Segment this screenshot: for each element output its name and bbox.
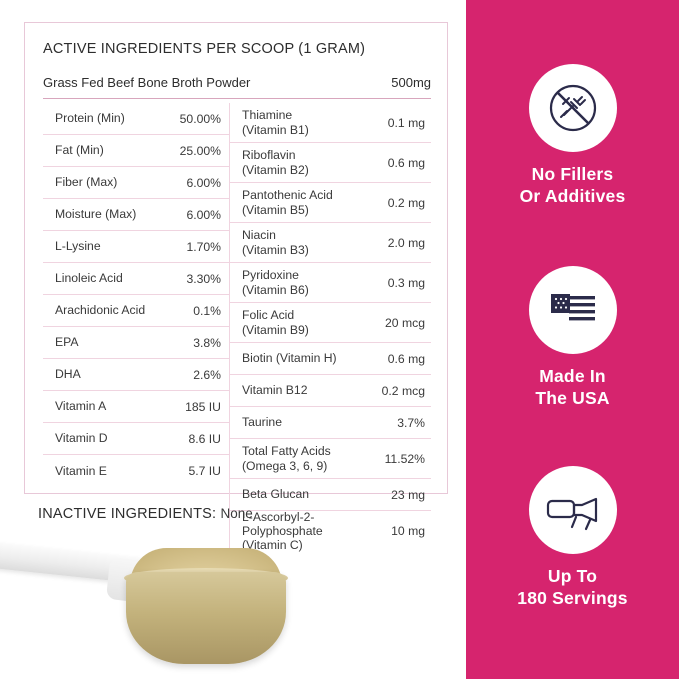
table-row: Fiber (Max)6.00% bbox=[43, 167, 229, 199]
ingredient-subname: (Vitamin B5) bbox=[242, 203, 333, 217]
ingredient-name: Total Fatty Acids(Omega 3, 6, 9) bbox=[242, 444, 337, 472]
table-row: Pantothenic Acid(Vitamin B5)0.2 mg bbox=[230, 183, 431, 223]
table-row: Taurine3.7% bbox=[230, 407, 431, 439]
ingredient-name: Fat (Min) bbox=[55, 143, 110, 157]
feature-label-line1: No Fillers bbox=[532, 164, 614, 184]
ingredient-subname: (Vitamin B9) bbox=[242, 323, 309, 337]
ingredient-value: 6.00% bbox=[186, 208, 221, 222]
ingredient-value: 5.7 IU bbox=[188, 464, 221, 478]
ingredient-subname: (Vitamin B6) bbox=[242, 283, 309, 297]
table-row: Biotin (Vitamin H)0.6 mg bbox=[230, 343, 431, 375]
ingredient-name: Pantothenic Acid(Vitamin B5) bbox=[242, 188, 339, 216]
table-row: Protein (Min)50.00% bbox=[43, 103, 229, 135]
feature-no-fillers: No Fillers Or Additives bbox=[466, 64, 679, 208]
ingredient-name: DHA bbox=[55, 367, 87, 381]
feature-label: No Fillers Or Additives bbox=[466, 164, 679, 208]
ingredient-value: 23 mg bbox=[391, 488, 425, 502]
table-row: Total Fatty Acids(Omega 3, 6, 9)11.52% bbox=[230, 439, 431, 479]
feature-label: Up To 180 Servings bbox=[466, 566, 679, 610]
ingredient-subname: (Vitamin B2) bbox=[242, 163, 309, 177]
table-row: Fat (Min)25.00% bbox=[43, 135, 229, 167]
table-row: Vitamin A185 IU bbox=[43, 391, 229, 423]
ingredient-name: Thiamine(Vitamin B1) bbox=[242, 108, 315, 136]
ingredient-name: Niacin(Vitamin B3) bbox=[242, 228, 315, 256]
ingredient-value: 0.2 mg bbox=[388, 196, 425, 210]
ingredient-value: 50.00% bbox=[180, 112, 221, 126]
ingredient-value: 3.8% bbox=[193, 336, 221, 350]
ingredient-value: 11.52% bbox=[385, 452, 425, 466]
ingredient-header-row: Grass Fed Beef Bone Broth Powder 500mg bbox=[43, 71, 431, 99]
table-row: L-Lysine1.70% bbox=[43, 231, 229, 263]
product-scoop-image bbox=[0, 520, 466, 679]
ingredient-column-right: Thiamine(Vitamin B1)0.1 mg Riboflavin(Vi… bbox=[229, 103, 431, 551]
table-row: Riboflavin(Vitamin B2)0.6 mg bbox=[230, 143, 431, 183]
no-fillers-crossed-out-icon bbox=[547, 82, 599, 134]
ingredient-value: 0.6 mg bbox=[388, 352, 425, 366]
usa-flag-icon bbox=[547, 290, 599, 330]
ingredient-name: Taurine bbox=[242, 415, 288, 429]
ingredient-name: Riboflavin(Vitamin B2) bbox=[242, 148, 315, 176]
ingredient-value: 1.70% bbox=[186, 240, 221, 254]
scoop-bowl bbox=[126, 572, 286, 664]
table-row: Arachidonic Acid0.1% bbox=[43, 295, 229, 327]
table-row: Thiamine(Vitamin B1)0.1 mg bbox=[230, 103, 431, 143]
ingredient-value: 25.00% bbox=[180, 144, 221, 158]
ingredient-name: Pyridoxine(Vitamin B6) bbox=[242, 268, 315, 296]
ingredient-name: Folic Acid(Vitamin B9) bbox=[242, 308, 315, 336]
feature-icon-circle bbox=[529, 266, 617, 354]
ingredient-name: Beta Glucan bbox=[242, 487, 315, 501]
ingredients-card: ACTIVE INGREDIENTS PER SCOOP (1 GRAM) Gr… bbox=[24, 22, 448, 494]
ingredient-value: 0.1% bbox=[193, 304, 221, 318]
table-row: Linoleic Acid3.30% bbox=[43, 263, 229, 295]
table-row: Niacin(Vitamin B3)2.0 mg bbox=[230, 223, 431, 263]
ingredient-name: L-Lysine bbox=[55, 239, 107, 253]
ingredient-subname: (Vitamin B1) bbox=[242, 123, 309, 137]
scoop-icon bbox=[546, 489, 600, 531]
ingredient-name: Moisture (Max) bbox=[55, 207, 142, 221]
table-row: Moisture (Max)6.00% bbox=[43, 199, 229, 231]
ingredient-value: 2.0 mg bbox=[388, 236, 425, 250]
ingredient-header-value: 500mg bbox=[391, 75, 431, 90]
ingredient-name: Vitamin A bbox=[55, 399, 112, 413]
feature-label-line2: 180 Servings bbox=[517, 588, 627, 608]
table-row: DHA2.6% bbox=[43, 359, 229, 391]
ingredient-column-left: Protein (Min)50.00% Fat (Min)25.00% Fibe… bbox=[43, 103, 229, 487]
feature-label-line1: Made In bbox=[539, 366, 606, 386]
ingredient-name: Arachidonic Acid bbox=[55, 303, 151, 317]
table-row: Folic Acid(Vitamin B9)20 mcg bbox=[230, 303, 431, 343]
page-title: ACTIVE INGREDIENTS PER SCOOP (1 GRAM) bbox=[43, 41, 365, 57]
ingredient-name: EPA bbox=[55, 335, 84, 349]
ingredient-name: Vitamin D bbox=[55, 431, 114, 445]
ingredient-value: 0.6 mg bbox=[388, 156, 425, 170]
table-row: Pyridoxine(Vitamin B6)0.3 mg bbox=[230, 263, 431, 303]
ingredient-name: Vitamin B12 bbox=[242, 383, 314, 397]
ingredient-value: 0.3 mg bbox=[388, 276, 425, 290]
ingredient-value: 6.00% bbox=[186, 176, 221, 190]
ingredient-value: 2.6% bbox=[193, 368, 221, 382]
ingredient-value: 20 mcg bbox=[385, 316, 425, 330]
ingredient-name: Protein (Min) bbox=[55, 111, 131, 125]
table-row: Beta Glucan23 mg bbox=[230, 479, 431, 511]
ingredient-value: 8.6 IU bbox=[188, 432, 221, 446]
ingredient-value: 185 IU bbox=[185, 400, 221, 414]
ingredient-value: 3.30% bbox=[186, 272, 221, 286]
ingredients-panel: ACTIVE INGREDIENTS PER SCOOP (1 GRAM) Gr… bbox=[0, 0, 466, 679]
feature-label-line2: The USA bbox=[535, 388, 609, 408]
ingredient-name: Vitamin E bbox=[55, 464, 113, 478]
feature-servings: Up To 180 Servings bbox=[466, 466, 679, 610]
feature-label-line2: Or Additives bbox=[520, 186, 626, 206]
ingredient-subname: (Vitamin B3) bbox=[242, 243, 309, 257]
table-row: Vitamin B120.2 mcg bbox=[230, 375, 431, 407]
ingredient-header-name: Grass Fed Beef Bone Broth Powder bbox=[43, 75, 250, 90]
table-row: EPA3.8% bbox=[43, 327, 229, 359]
ingredient-value: 3.7% bbox=[397, 416, 425, 430]
feature-made-in-usa: Made In The USA bbox=[466, 266, 679, 410]
ingredient-name: Linoleic Acid bbox=[55, 271, 129, 285]
features-panel: No Fillers Or Additives bbox=[466, 0, 679, 679]
inactive-ingredients-value: None bbox=[220, 506, 252, 521]
ingredient-subname: (Omega 3, 6, 9) bbox=[242, 459, 331, 473]
ingredient-value: 0.1 mg bbox=[388, 116, 425, 130]
feature-label-line1: Up To bbox=[548, 566, 597, 586]
feature-label: Made In The USA bbox=[466, 366, 679, 410]
feature-icon-circle bbox=[529, 466, 617, 554]
table-row: Vitamin D8.6 IU bbox=[43, 423, 229, 455]
ingredient-name: Biotin (Vitamin H) bbox=[242, 351, 343, 365]
ingredient-name: Fiber (Max) bbox=[55, 175, 123, 189]
feature-icon-circle bbox=[529, 64, 617, 152]
table-row: Vitamin E5.7 IU bbox=[43, 455, 229, 487]
ingredient-value: 0.2 mcg bbox=[382, 384, 425, 398]
